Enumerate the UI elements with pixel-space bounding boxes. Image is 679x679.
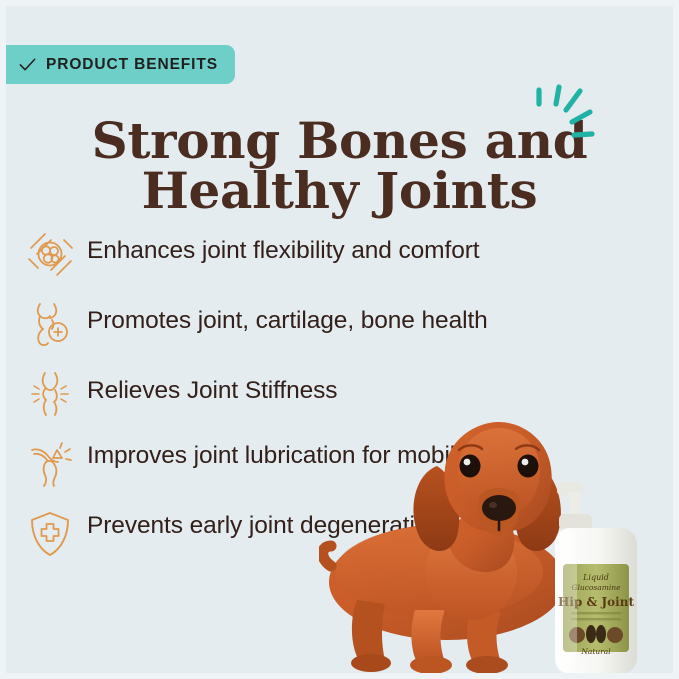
list-item: Enhances joint flexibility and comfort — [24, 228, 624, 280]
svg-text:Liquid: Liquid — [582, 573, 609, 582]
joint-lubrication-icon — [24, 438, 76, 490]
svg-text:Glucosamine: Glucosamine — [571, 583, 621, 592]
dachshund-dog-photo: Liquid Glucosamine Hip & Joint Natural — [319, 404, 679, 679]
headline-line-2: Healthy Joints — [74, 166, 605, 216]
product-bottle: Liquid Glucosamine Hip & Joint Natural — [555, 482, 637, 674]
shield-cross-icon — [24, 508, 76, 560]
product-benefits-badge: PRODUCT BENEFITS — [0, 45, 235, 84]
benefit-text: Relieves Joint Stiffness — [87, 368, 337, 406]
svg-text:Natural: Natural — [580, 647, 611, 656]
list-item: Promotes joint, cartilage, bone health — [24, 298, 624, 350]
check-icon — [18, 55, 37, 74]
joint-flexibility-icon — [24, 228, 76, 280]
badge-label: PRODUCT BENEFITS — [46, 57, 218, 73]
headline-line-1: Strong Bones and — [74, 116, 605, 166]
joint-relief-icon — [24, 368, 76, 420]
benefit-text: Enhances joint flexibility and comfort — [87, 228, 479, 266]
joint-cartilage-bone-icon — [24, 298, 76, 350]
benefit-text: Promotes joint, cartilage, bone health — [87, 298, 488, 336]
sparkle-burst-icon — [528, 82, 614, 146]
